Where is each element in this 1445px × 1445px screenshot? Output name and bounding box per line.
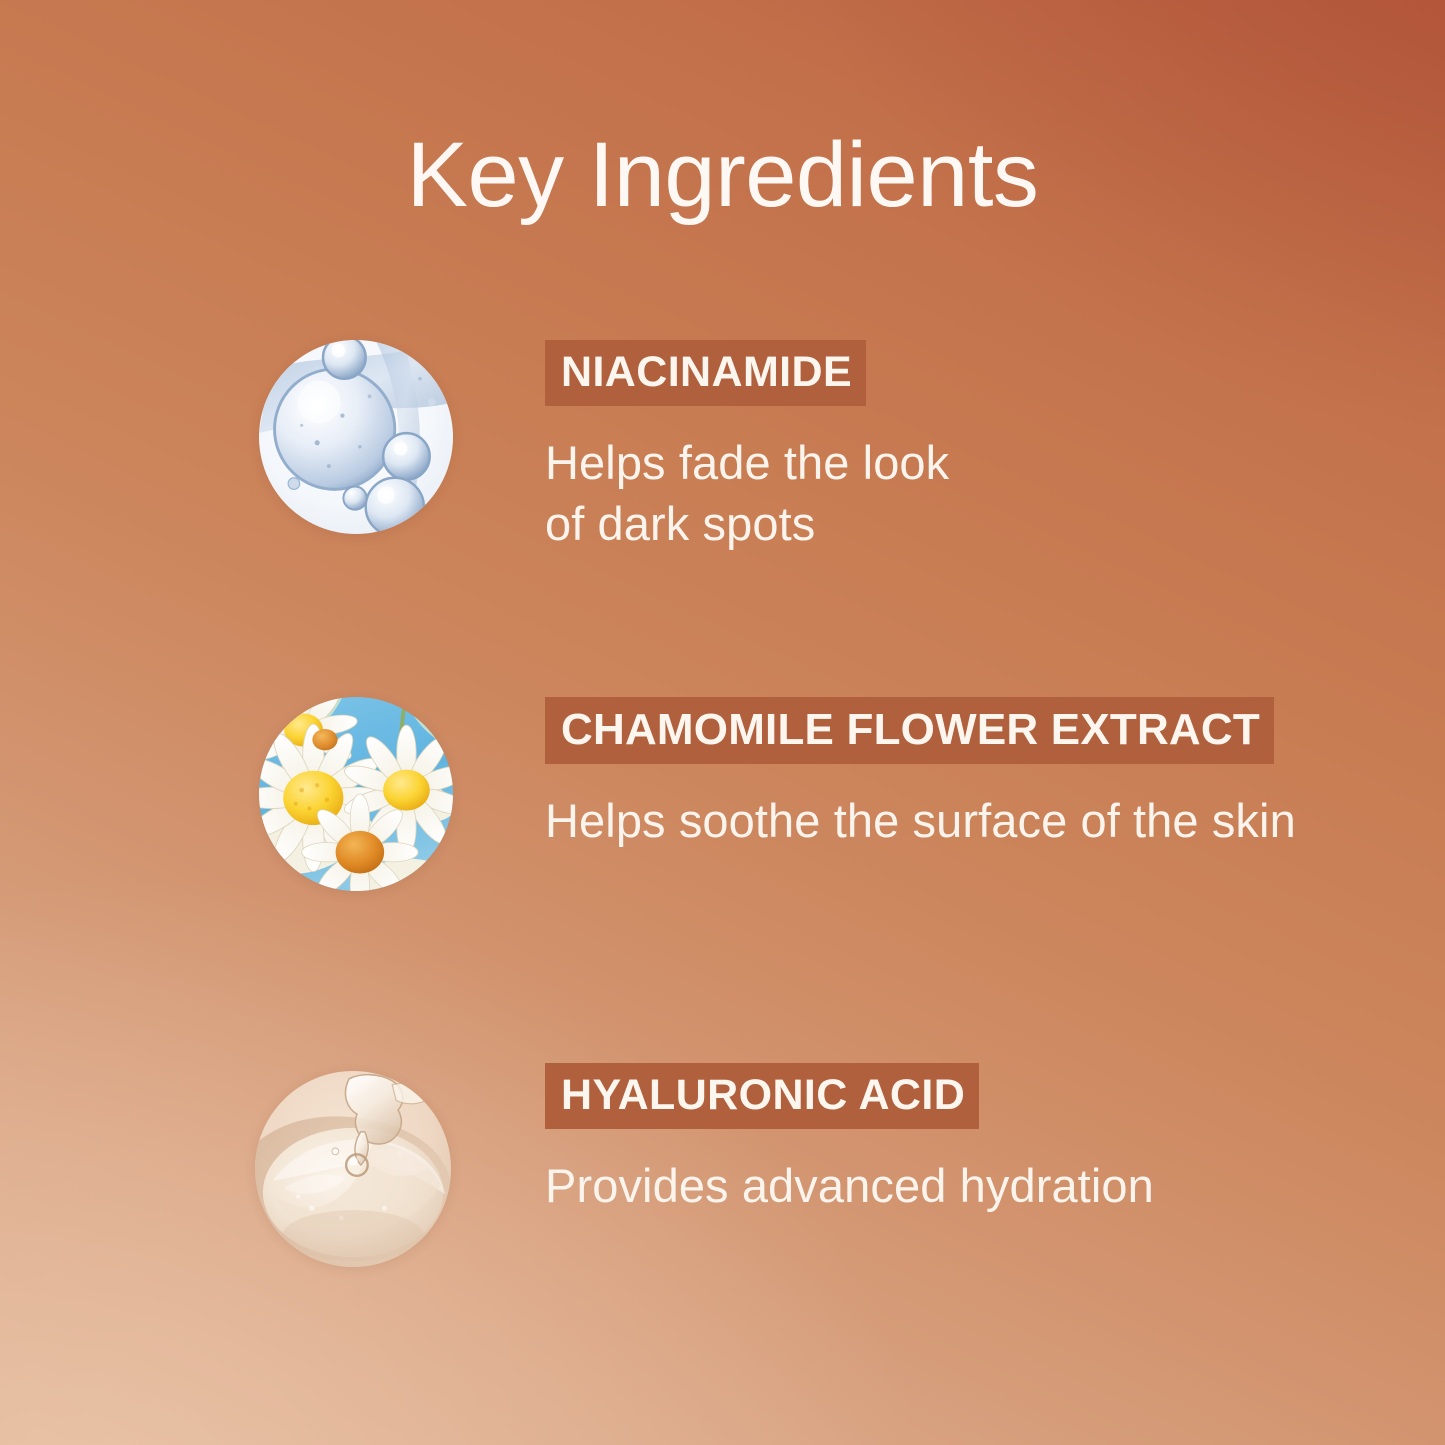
ingredient-name: NIACINAMIDE — [545, 340, 866, 406]
ingredient-row: CHAMOMILE FLOWER EXTRACT Helps soothe th… — [0, 697, 1445, 897]
ingredient-description: Helps fade the look of dark spots — [545, 432, 949, 554]
ingredient-row: HYALURONIC ACID Provides advanced hydrat… — [0, 1063, 1445, 1263]
ingredient-description: Helps soothe the surface of the skin — [545, 790, 1296, 851]
ingredient-text-block: CHAMOMILE FLOWER EXTRACT Helps soothe th… — [545, 697, 1296, 851]
chamomile-flowers-icon — [259, 697, 453, 891]
clear-gel-droplet-icon — [255, 1071, 451, 1267]
key-ingredients-panel: Key Ingredients — [0, 0, 1445, 1445]
page-title: Key Ingredients — [0, 129, 1445, 221]
ingredient-description: Provides advanced hydration — [545, 1155, 1154, 1216]
ingredient-row: NIACINAMIDE Helps fade the look of dark … — [0, 340, 1445, 540]
water-bubbles-icon — [259, 340, 453, 534]
ingredient-name: CHAMOMILE FLOWER EXTRACT — [545, 697, 1274, 764]
ingredient-name: HYALURONIC ACID — [545, 1063, 979, 1129]
ingredient-text-block: HYALURONIC ACID Provides advanced hydrat… — [545, 1063, 1154, 1216]
ingredient-text-block: NIACINAMIDE Helps fade the look of dark … — [545, 340, 949, 554]
